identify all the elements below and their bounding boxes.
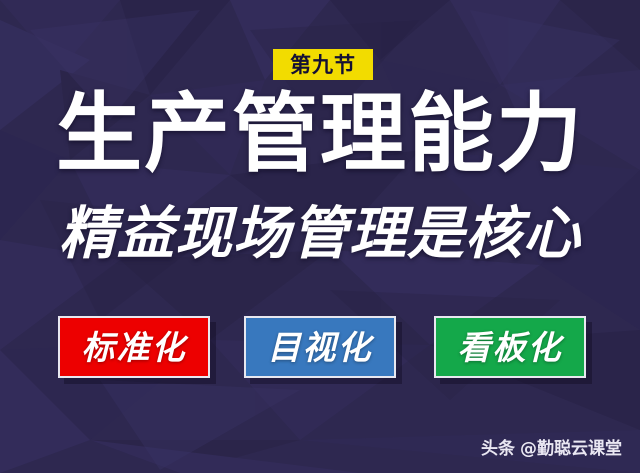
slide-canvas: 第九节 生产管理能力 精益现场管理是核心 标准化 目视化 看板化 头条 @勤聪云… <box>0 0 640 473</box>
watermark: 头条 @勤聪云课堂 <box>481 434 622 459</box>
key-box-standardization-label: 标准化 <box>82 331 187 364</box>
key-box-kanban-label: 看板化 <box>458 331 563 364</box>
watermark-brand: 头条 <box>481 434 515 459</box>
key-points-row: 标准化 目视化 看板化 <box>58 316 586 378</box>
section-badge-label: 第九节 <box>290 54 356 75</box>
watermark-handle: @勤聪云课堂 <box>520 434 622 459</box>
key-box-kanban: 看板化 <box>434 316 586 378</box>
key-box-standardization: 标准化 <box>58 316 210 378</box>
key-box-visualization-label: 目视化 <box>268 331 373 364</box>
section-badge: 第九节 <box>273 49 373 80</box>
key-box-visualization: 目视化 <box>244 316 396 378</box>
subtitle: 精益现场管理是核心 <box>0 199 640 269</box>
main-title: 生产管理能力 <box>0 86 640 182</box>
